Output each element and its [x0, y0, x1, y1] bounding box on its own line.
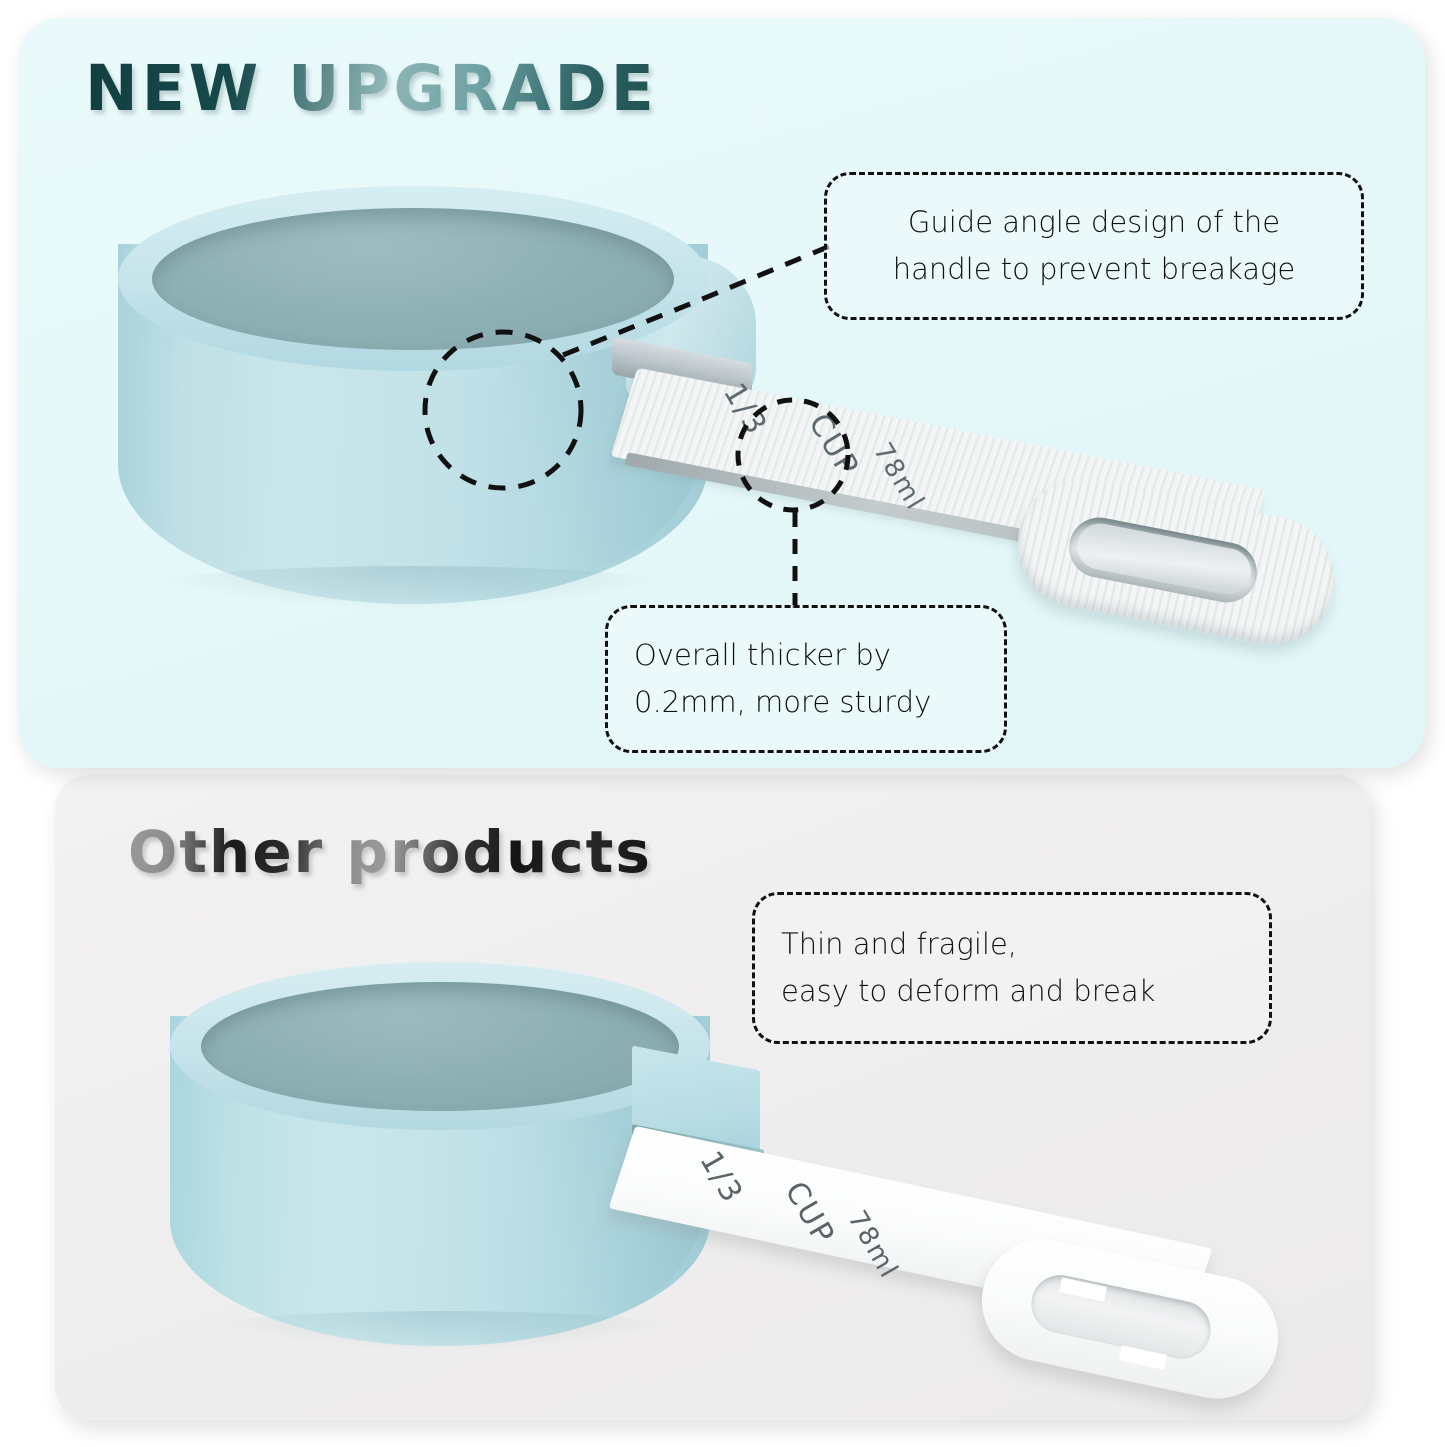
callout-guide-line2: handle to prevent breakage [893, 246, 1296, 293]
callout-thicker: Overall thicker by 0.2mm, more sturdy [605, 605, 1007, 753]
callout-thin-line2: easy to deform and break [781, 968, 1155, 1015]
callout-thicker-line2: 0.2mm, more sturdy [634, 679, 931, 726]
cup-interior [152, 208, 674, 350]
cup-interior [201, 982, 679, 1111]
callout-thin-line1: Thin and fragile, [781, 921, 1017, 968]
infographic-canvas: 1/3 CUP 78ml Other products Thin and fra… [0, 0, 1445, 1447]
callout-thin-fragile: Thin and fragile, easy to deform and bre… [752, 892, 1272, 1044]
callout-thicker-line1: Overall thicker by [634, 632, 891, 679]
callout-guide-line1: Guide angle design of the [908, 199, 1280, 246]
panel-new-title: NEW UPGRADE [85, 52, 658, 125]
panel-other-title: Other products [128, 818, 652, 886]
callout-guide-angle: Guide angle design of the handle to prev… [824, 172, 1364, 320]
